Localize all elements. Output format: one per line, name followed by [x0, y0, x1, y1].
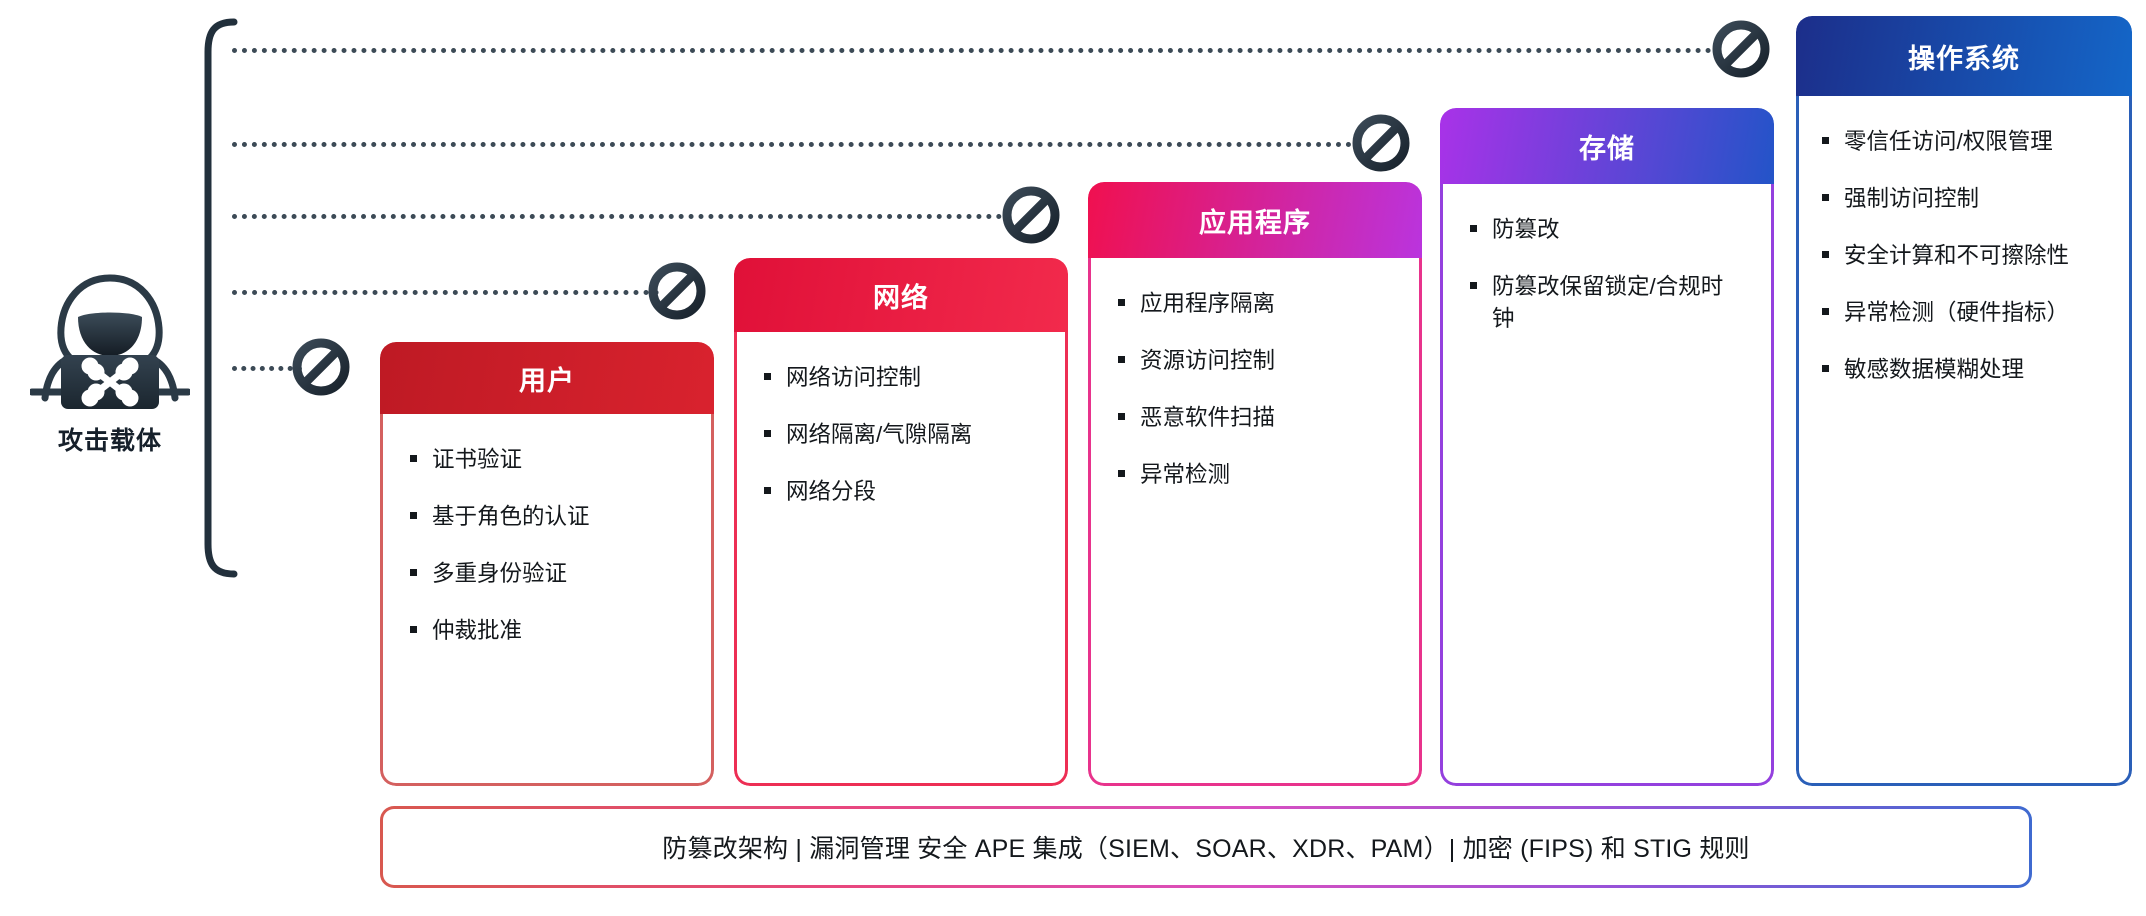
hacker-icon — [30, 268, 190, 413]
list-item: 网络访问控制 — [764, 362, 1050, 394]
foundation-capabilities-text: 防篡改架构 | 漏洞管理 安全 APE 集成（SIEM、SOAR、XDR、PAM… — [662, 829, 1750, 865]
layer-card-storage[interactable]: 存储 防篡改 防篡改保留锁定/合规时钟 — [1440, 108, 1774, 786]
card-item-list: 零信任访问/权限管理 强制访问控制 安全计算和不可擦除性 异常检测（硬件指标） … — [1796, 96, 2132, 411]
card-header-storage: 存储 — [1440, 108, 1774, 184]
attack-vector-group: 攻击载体 — [20, 268, 200, 457]
layer-card-application[interactable]: 应用程序 应用程序隔离 资源访问控制 恶意软件扫描 异常检测 — [1088, 182, 1422, 786]
card-title: 网络 — [873, 276, 929, 315]
list-item: 资源访问控制 — [1118, 345, 1404, 377]
list-item: 敏感数据模糊处理 — [1822, 354, 2124, 386]
no-entry-icon — [648, 262, 706, 320]
layer-card-user[interactable]: 用户 证书验证 基于角色的认证 多重身份验证 仲裁批准 — [380, 342, 714, 786]
attack-line-app — [232, 214, 1012, 219]
foundation-capabilities-bar: 防篡改架构 | 漏洞管理 安全 APE 集成（SIEM、SOAR、XDR、PAM… — [380, 806, 2032, 888]
list-item: 安全计算和不可擦除性 — [1822, 240, 2124, 272]
list-item: 证书验证 — [410, 444, 696, 476]
card-header-application: 应用程序 — [1088, 182, 1422, 258]
card-header-operating-system: 操作系统 — [1796, 16, 2132, 96]
card-header-network: 网络 — [734, 258, 1068, 332]
list-item: 异常检测（硬件指标） — [1822, 297, 2124, 329]
attack-vector-label: 攻击载体 — [20, 421, 200, 457]
list-item: 多重身份验证 — [410, 558, 696, 590]
list-item: 异常检测 — [1118, 459, 1404, 491]
security-layers-diagram: 攻击载体 用户 证书验证 基于角色的认证 — [0, 0, 2146, 916]
layer-card-operating-system[interactable]: 操作系统 零信任访问/权限管理 强制访问控制 安全计算和不可擦除性 异常检测（硬… — [1796, 16, 2132, 786]
list-item: 应用程序隔离 — [1118, 288, 1404, 320]
no-entry-icon — [1352, 114, 1410, 172]
card-title: 操作系统 — [1908, 37, 2020, 76]
left-brace-icon — [190, 18, 238, 578]
list-item: 网络分段 — [764, 476, 1050, 508]
list-item: 恶意软件扫描 — [1118, 402, 1404, 434]
list-item: 防篡改 — [1470, 214, 1734, 246]
card-header-user: 用户 — [380, 342, 714, 414]
card-item-list: 防篡改 防篡改保留锁定/合规时钟 — [1440, 184, 1774, 360]
attack-line-storage — [232, 142, 1362, 147]
no-entry-icon — [1712, 20, 1770, 78]
list-item: 强制访问控制 — [1822, 183, 2124, 215]
card-title: 存储 — [1579, 127, 1635, 166]
attack-line-os — [232, 48, 1722, 53]
list-item: 防篡改保留锁定/合规时钟 — [1470, 271, 1734, 335]
card-item-list: 网络访问控制 网络隔离/气隙隔离 网络分段 — [734, 332, 1068, 533]
layer-card-network[interactable]: 网络 网络访问控制 网络隔离/气隙隔离 网络分段 — [734, 258, 1068, 786]
list-item: 仲裁批准 — [410, 615, 696, 647]
list-item: 网络隔离/气隙隔离 — [764, 419, 1050, 451]
attack-line-network — [232, 290, 659, 295]
card-title: 应用程序 — [1199, 201, 1311, 240]
card-title: 用户 — [519, 359, 575, 398]
list-item: 基于角色的认证 — [410, 501, 696, 533]
list-item: 零信任访问/权限管理 — [1822, 126, 2124, 158]
no-entry-icon — [1002, 186, 1060, 244]
card-item-list: 证书验证 基于角色的认证 多重身份验证 仲裁批准 — [380, 414, 714, 672]
card-item-list: 应用程序隔离 资源访问控制 恶意软件扫描 异常检测 — [1088, 258, 1422, 516]
no-entry-icon — [292, 338, 350, 396]
